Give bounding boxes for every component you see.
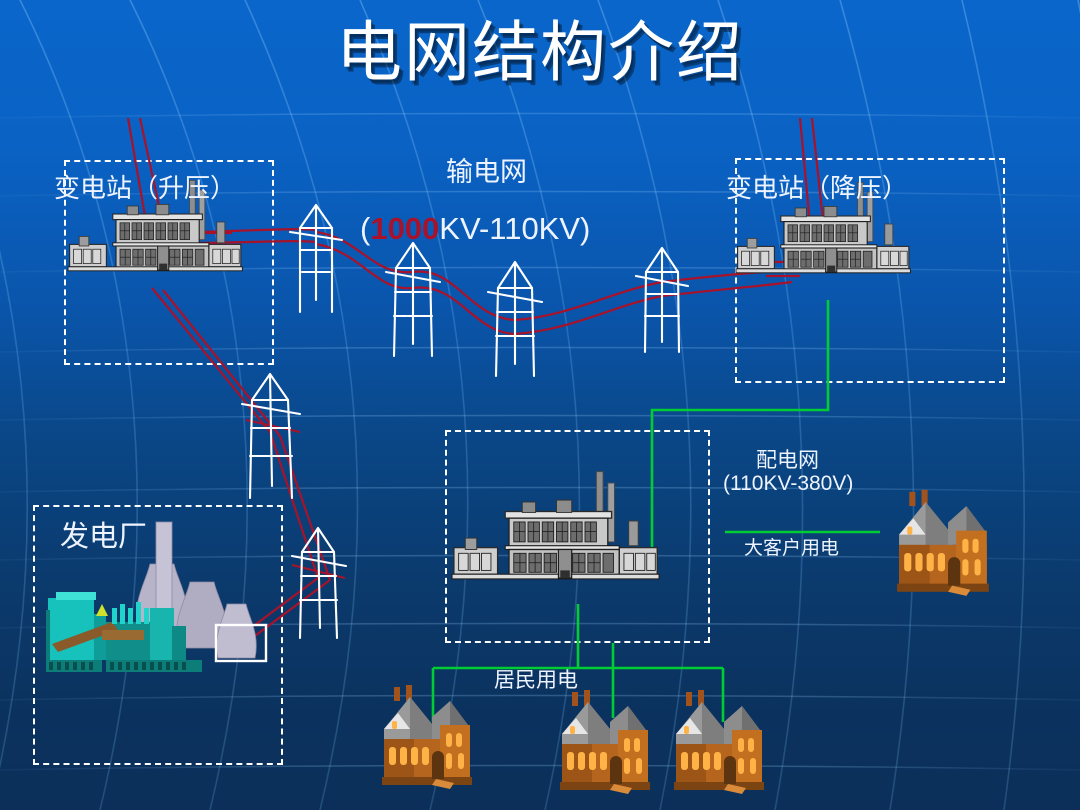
transmission-tower bbox=[488, 262, 542, 376]
transmission-tower bbox=[386, 243, 440, 356]
label-distribution-voltage: (110KV-380V) bbox=[723, 472, 853, 496]
label-transmission-network: 输电网 bbox=[446, 150, 527, 189]
voltage-rest: KV-110KV) bbox=[439, 211, 590, 246]
label-residential: 居民用电 bbox=[494, 664, 578, 694]
transmission-tower bbox=[636, 248, 688, 352]
label-power-plant: 发电厂 bbox=[60, 513, 147, 555]
distribution-zone bbox=[445, 430, 710, 643]
house-residential-3 bbox=[674, 690, 764, 794]
transmission-tower bbox=[290, 205, 342, 312]
label-substation-step-up: 变电站（升压） bbox=[54, 168, 236, 205]
slide-canvas: 电网结构介绍 bbox=[0, 0, 1080, 810]
label-transmission-voltage: (1000KV-110KV) bbox=[360, 211, 590, 247]
label-substation-step-down: 变电站（降压） bbox=[726, 168, 908, 205]
house-residential-2 bbox=[560, 690, 650, 794]
label-distribution-network: 配电网 bbox=[756, 444, 819, 474]
label-large-customer: 大客户用电 bbox=[744, 533, 839, 560]
house-large-customer bbox=[897, 490, 989, 596]
page-title: 电网结构介绍 bbox=[0, 18, 1080, 87]
transmission-tower bbox=[242, 374, 300, 498]
house-residential-1 bbox=[382, 685, 472, 789]
transmission-tower bbox=[292, 528, 346, 638]
voltage-highlight: 1000 bbox=[370, 211, 439, 246]
voltage-prefix: ( bbox=[360, 211, 370, 246]
